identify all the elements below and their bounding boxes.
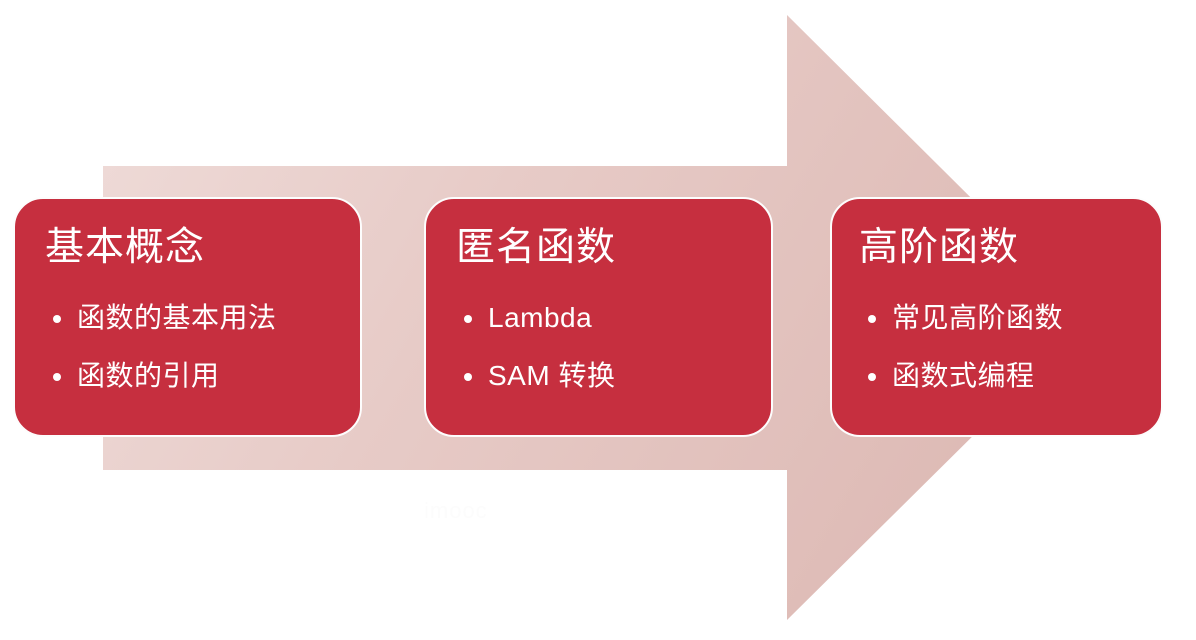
list-item: SAM 转换 [452, 361, 761, 391]
topic-card-basic-concepts[interactable]: 基本概念 函数的基本用法 函数的引用 [13, 197, 362, 437]
card-bullet-list: 常见高阶函数 函数式编程 [856, 303, 1151, 419]
diagram-canvas: imooc imooc 基本概念 函数的基本用法 函数的引用 匿名函数 Lamb… [0, 0, 1196, 640]
card-bullet-list: Lambda SAM 转换 [452, 303, 761, 419]
bullet-label: SAM 转换 [488, 360, 615, 391]
card-title: 基本概念 [45, 225, 205, 271]
topic-card-higher-order-functions[interactable]: 高阶函数 常见高阶函数 函数式编程 [830, 197, 1163, 437]
list-item: 常见高阶函数 [856, 303, 1151, 333]
bullet-dot-icon [868, 373, 876, 381]
bullet-dot-icon [53, 315, 61, 323]
bullet-label: 函数式编程 [892, 360, 1035, 391]
bullet-dot-icon [53, 373, 61, 381]
bullet-label: Lambda [488, 302, 592, 333]
list-item: 函数式编程 [856, 361, 1151, 391]
list-item: 函数的引用 [41, 361, 350, 391]
bullet-dot-icon [868, 315, 876, 323]
bullet-label: 常见高阶函数 [892, 302, 1063, 333]
bullet-label: 函数的引用 [77, 360, 220, 391]
list-item: Lambda [452, 303, 761, 333]
topic-card-anonymous-functions[interactable]: 匿名函数 Lambda SAM 转换 [424, 197, 773, 437]
card-bullet-list: 函数的基本用法 函数的引用 [41, 303, 350, 419]
bullet-dot-icon [464, 315, 472, 323]
card-title: 匿名函数 [456, 225, 616, 271]
bullet-label: 函数的基本用法 [77, 302, 277, 333]
list-item: 函数的基本用法 [41, 303, 350, 333]
bullet-dot-icon [464, 373, 472, 381]
card-title: 高阶函数 [859, 225, 1019, 271]
